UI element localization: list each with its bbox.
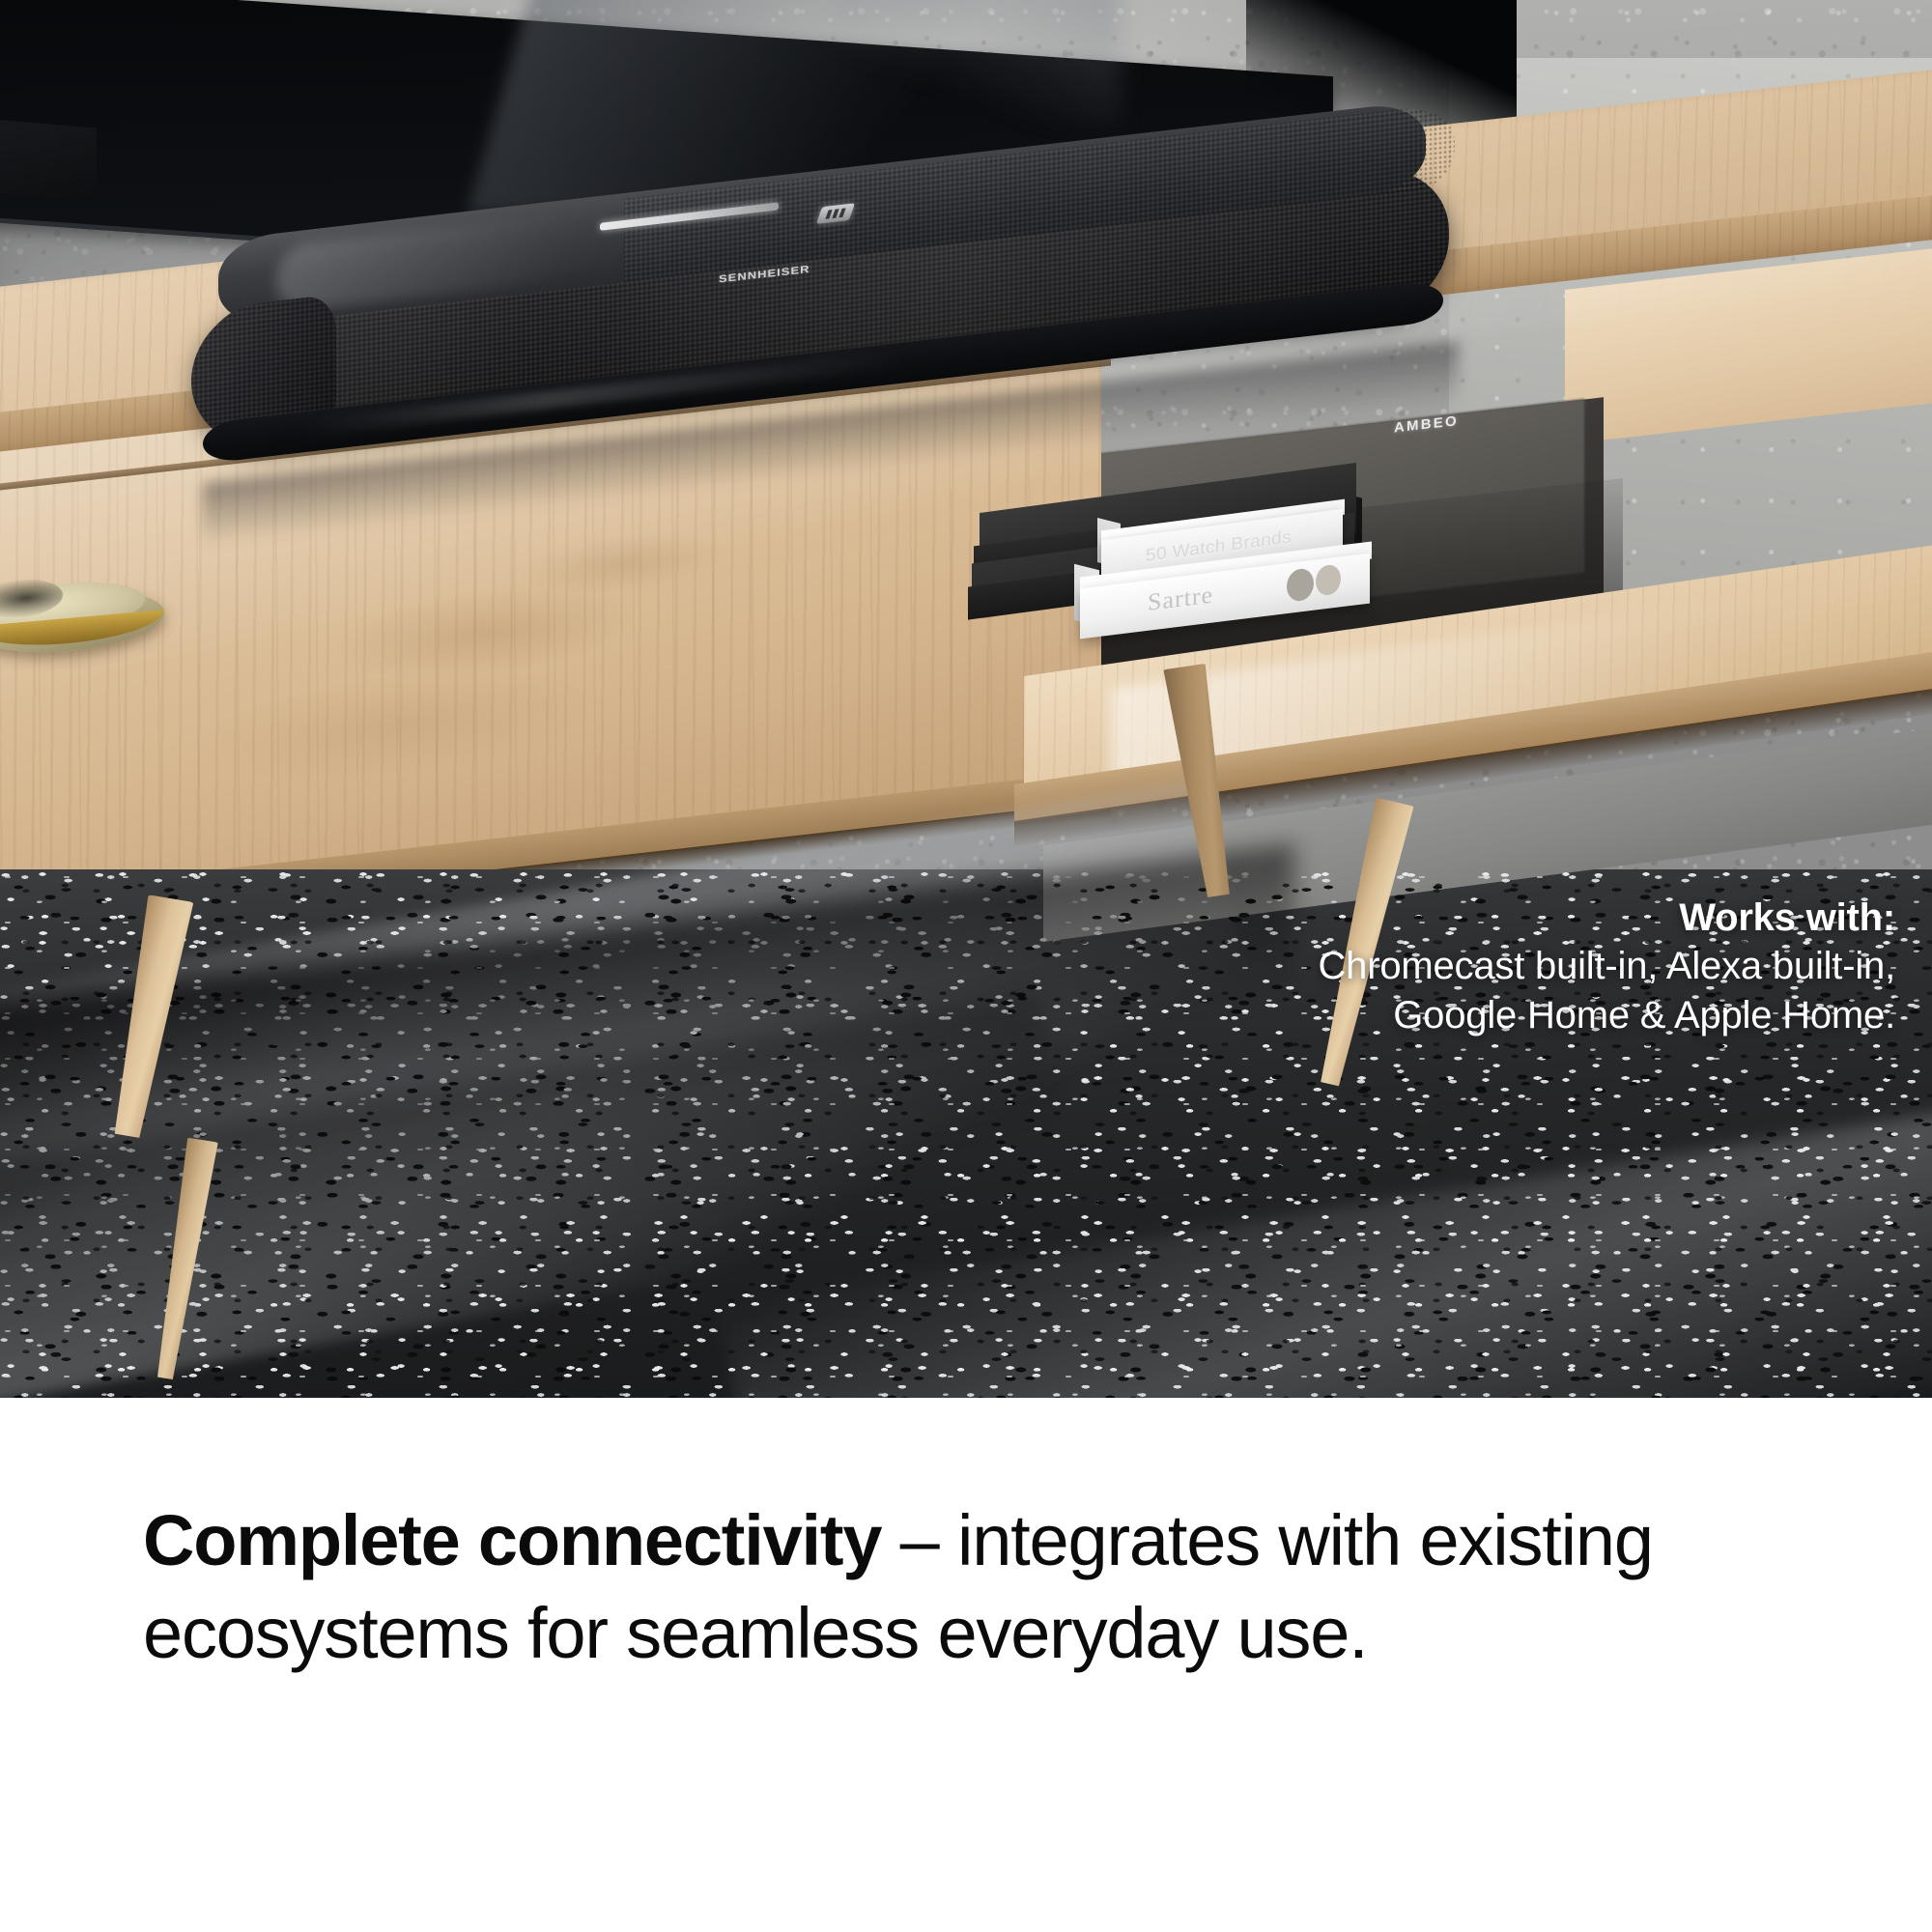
product-lifestyle-photo: SENNHEISER AMBEO 50 Watch Brands Sartre [0,0,1932,1398]
ad-creative: SENNHEISER AMBEO 50 Watch Brands Sartre [0,0,1932,1932]
works-with-line-1: Chromecast built-in, Alexa built-in, [1318,942,1895,991]
caption-lead: Complete connectivity [143,1500,881,1580]
works-with-line-2: Google Home & Apple Home. [1318,991,1895,1040]
caption-panel: Complete connectivity – integrates with … [0,1398,1932,1932]
book-stack: 50 Watch Brands Sartre [966,478,1420,662]
television-stand [0,119,97,202]
caption-text: Complete connectivity – integrates with … [143,1494,1804,1680]
works-with-overlay: Works with: Chromecast built-in, Alexa b… [1318,895,1895,1040]
works-with-title: Works with: [1318,895,1895,941]
